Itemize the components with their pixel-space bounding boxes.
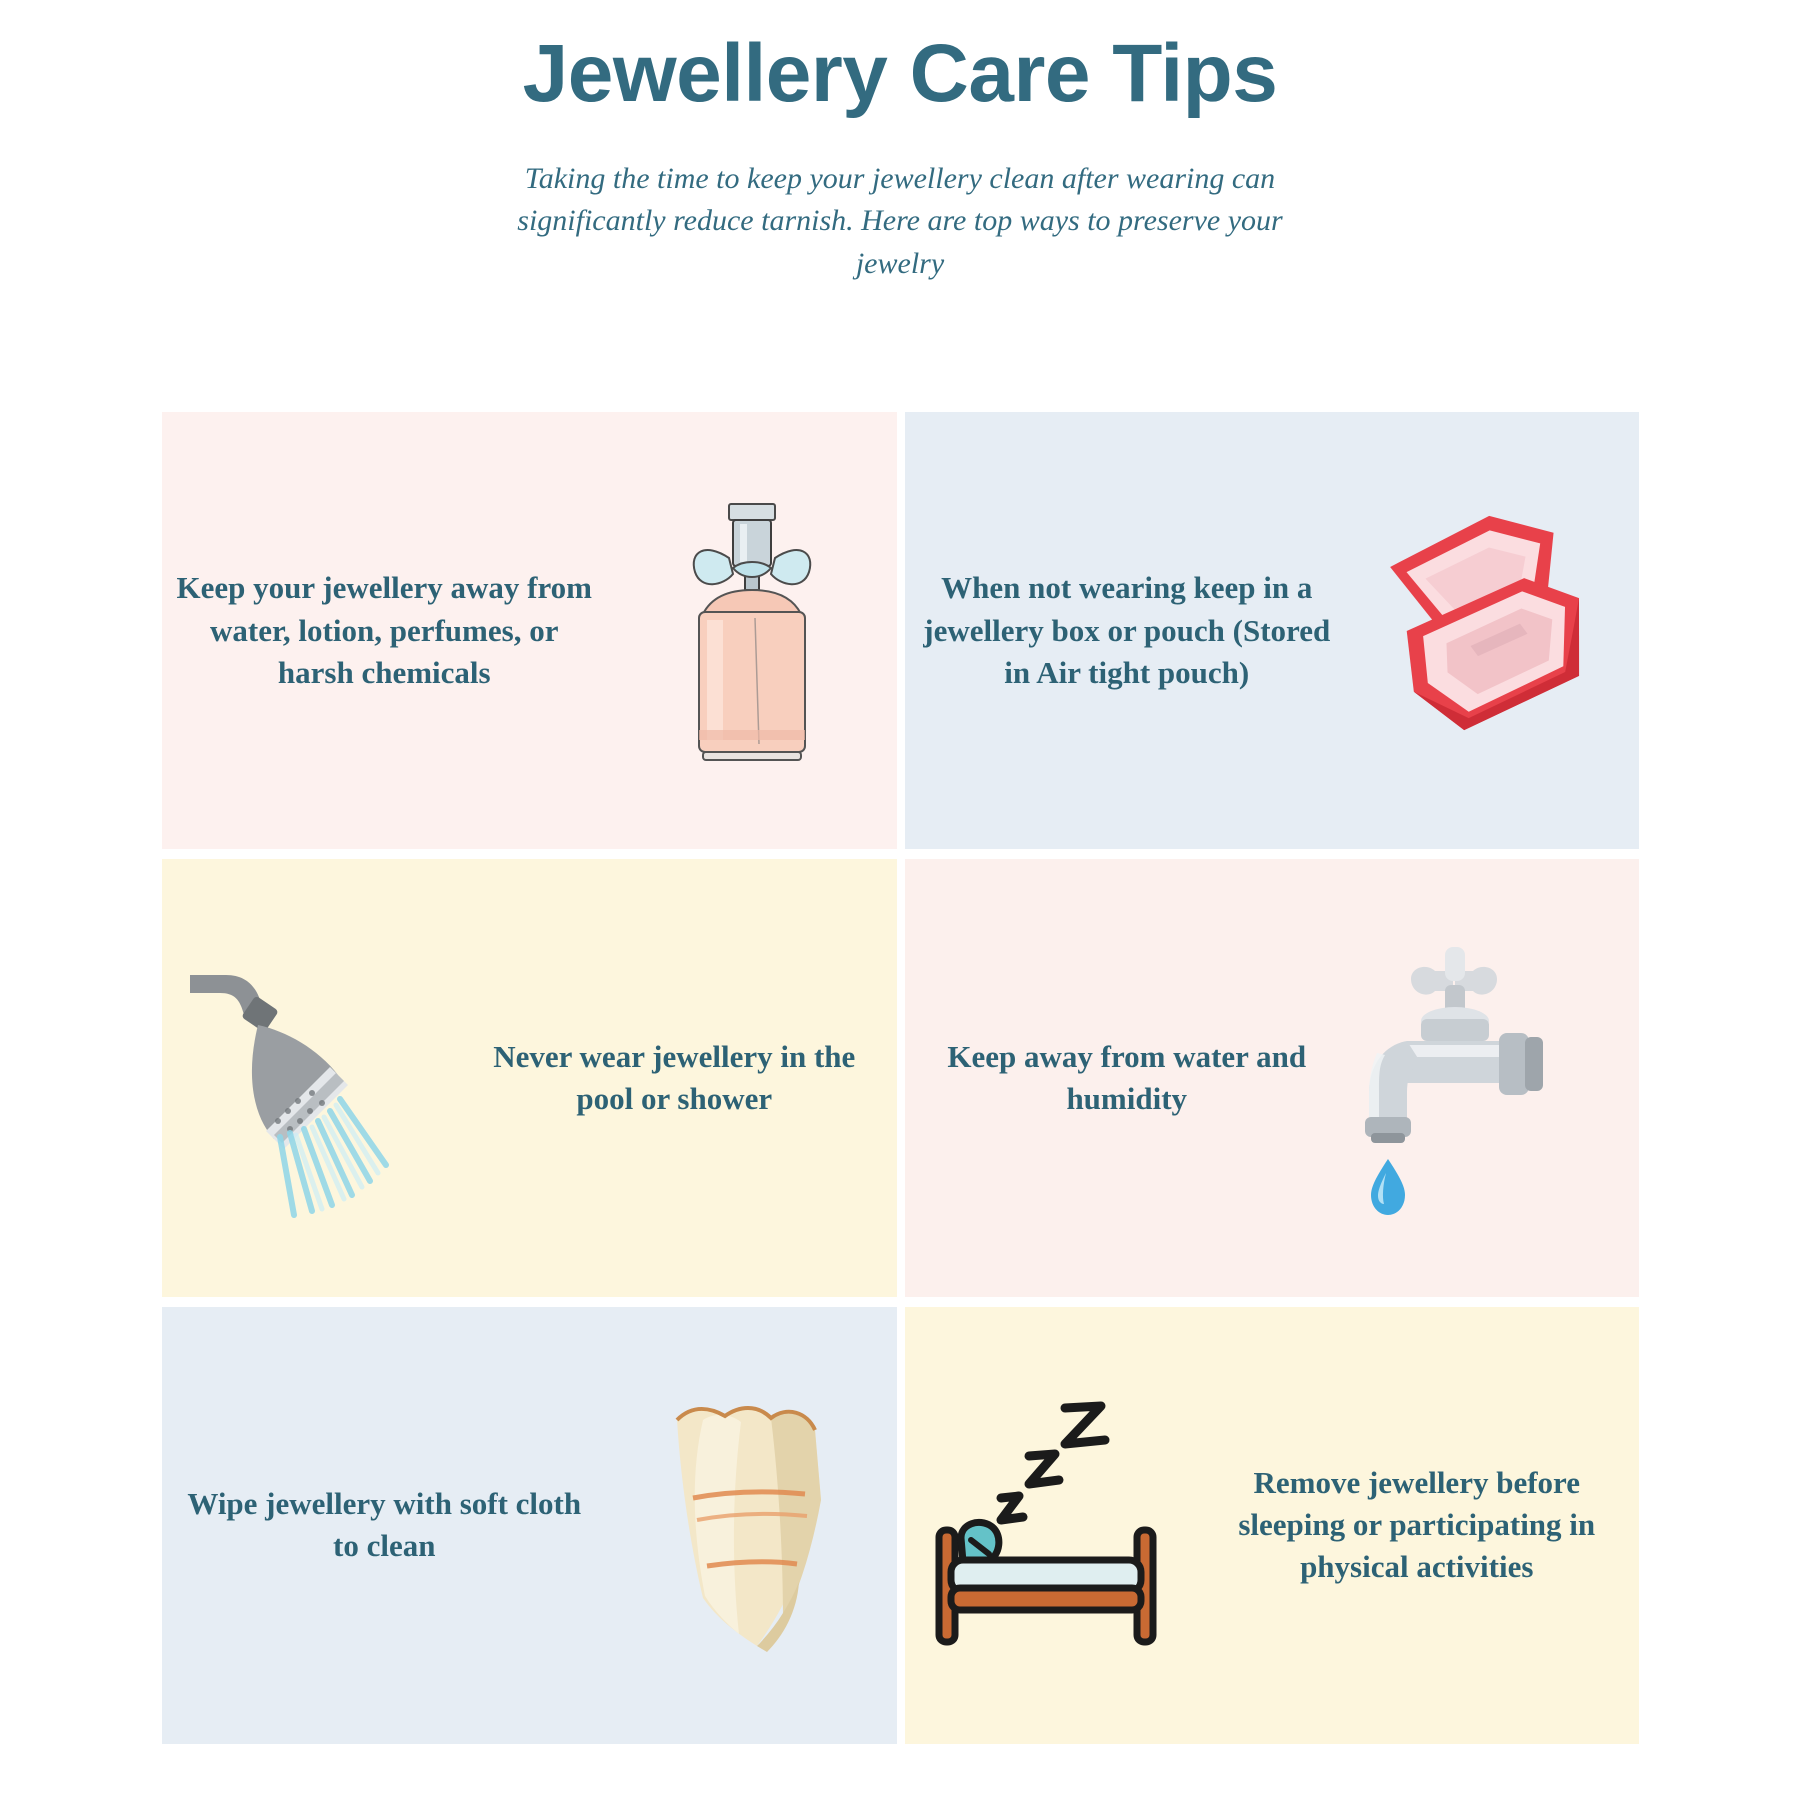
tip-card-text: When not wearing keep in a jewellery box… (905, 567, 1350, 693)
tip-card-text: Keep your jewellery away from water, lot… (162, 567, 607, 693)
tip-card-text: Remove jewellery before sleeping or part… (1195, 1462, 1640, 1588)
page-subtitle: Taking the time to keep your jewellery c… (500, 158, 1300, 286)
tip-card-text: Keep away from water and humidity (905, 1036, 1350, 1120)
faucet-drip-icon (1349, 933, 1639, 1223)
tip-card-text: Never wear jewellery in the pool or show… (452, 1036, 897, 1120)
tip-card-avoid-chemicals[interactable]: Keep your jewellery away from water, lot… (162, 412, 897, 849)
infographic-page: Jewellery Care Tips Taking the time to k… (0, 0, 1800, 1800)
bed-sleeping-icon (905, 1380, 1195, 1670)
soft-cloth-icon (607, 1380, 897, 1670)
tip-card-wipe-with-cloth[interactable]: Wipe jewellery with soft cloth to clean (162, 1307, 897, 1744)
tip-card-remove-before-sleep[interactable]: Remove jewellery before sleeping or part… (905, 1307, 1640, 1744)
header: Jewellery Care Tips Taking the time to k… (0, 0, 1800, 286)
ring-box-icon (1349, 486, 1639, 776)
perfume-bottle-icon (607, 486, 897, 776)
page-title: Jewellery Care Tips (0, 28, 1800, 120)
tip-card-store-in-box[interactable]: When not wearing keep in a jewellery box… (905, 412, 1640, 849)
tip-card-text: Wipe jewellery with soft cloth to clean (162, 1483, 607, 1567)
shower-head-icon (162, 933, 452, 1223)
tips-grid: Keep your jewellery away from water, lot… (162, 412, 1639, 1744)
tip-card-avoid-water-humidity[interactable]: Keep away from water and humidity (905, 859, 1640, 1296)
tip-card-no-pool-or-shower[interactable]: Never wear jewellery in the pool or show… (162, 859, 897, 1296)
